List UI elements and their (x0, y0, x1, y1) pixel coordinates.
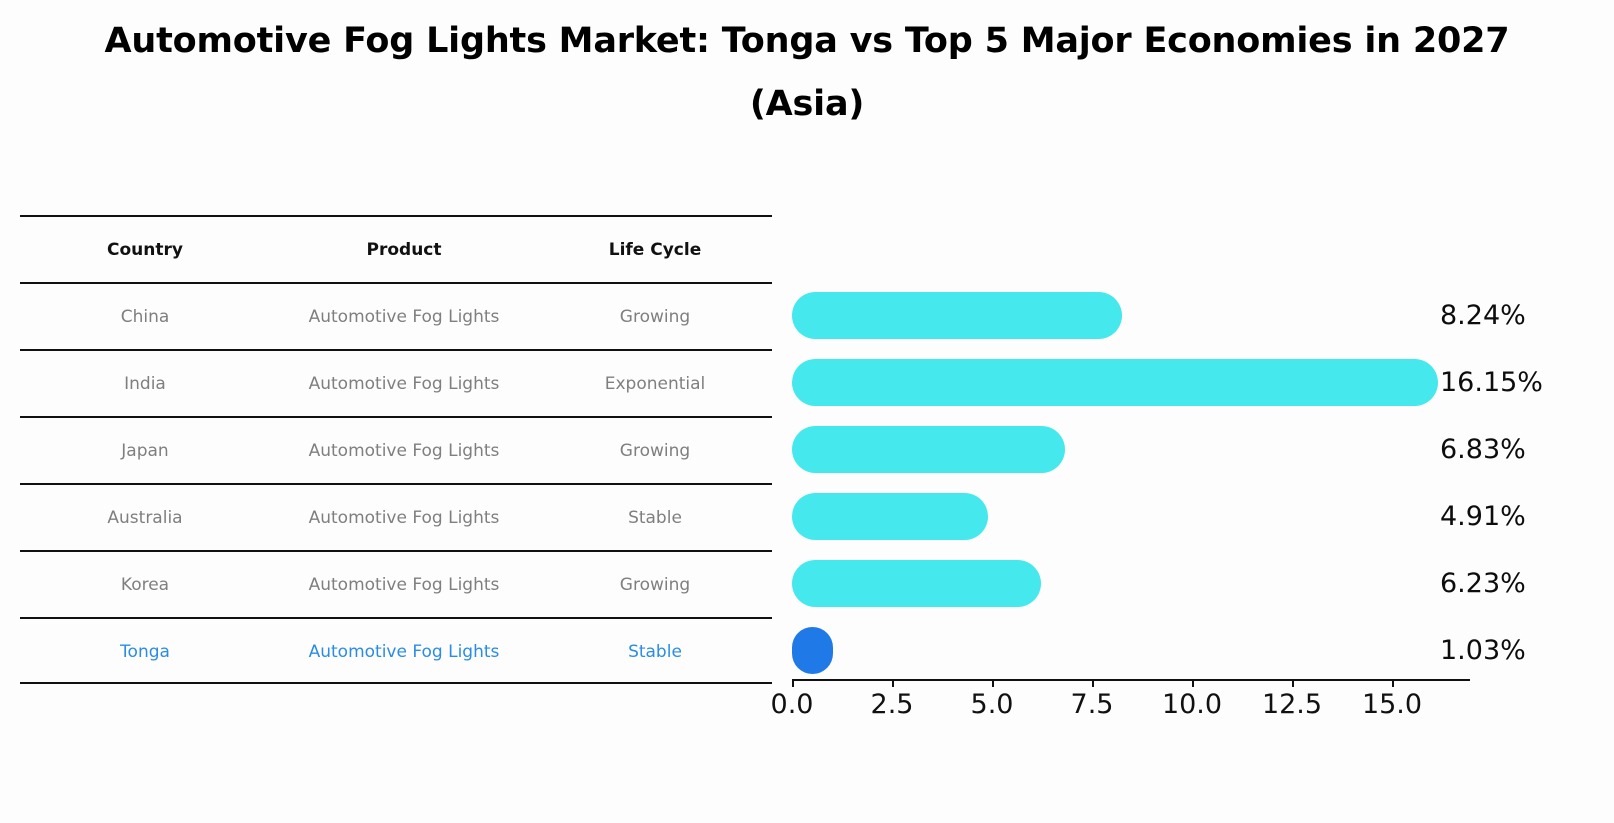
table-row[interactable]: Australia Automotive Fog Lights Stable (20, 483, 772, 550)
bar-tonga[interactable] (792, 627, 833, 674)
page-title-line-1: Automotive Fog Lights Market: Tonga vs T… (105, 21, 1510, 61)
cell-country: China (20, 284, 270, 351)
x-axis-tick-label: 15.0 (1332, 689, 1452, 720)
cell-life-cycle: Exponential (538, 351, 772, 418)
bar-row: 6.23% (792, 550, 1492, 617)
bar-australia[interactable] (792, 493, 988, 540)
cell-life-cycle: Stable (538, 485, 772, 552)
bar-japan[interactable] (792, 426, 1065, 473)
bar-value-japan: 6.83% (1440, 426, 1526, 473)
bar-row: 16.15% (792, 349, 1492, 416)
cell-life-cycle: Growing (538, 418, 772, 485)
x-axis-tick (792, 679, 794, 687)
cell-product: Automotive Fog Lights (270, 284, 538, 351)
x-axis-tick (992, 679, 994, 687)
bar-row: 8.24% (792, 282, 1492, 349)
bar-value-china: 8.24% (1440, 292, 1526, 339)
cell-country: India (20, 351, 270, 418)
cell-product: Automotive Fog Lights (270, 552, 538, 619)
cell-product: Automotive Fog Lights (270, 619, 538, 686)
cell-product: Automotive Fog Lights (270, 485, 538, 552)
page-title: Automotive Fog Lights Market: Tonga vs T… (0, 10, 1614, 136)
column-header-product: Product (270, 217, 538, 284)
cell-country: Japan (20, 418, 270, 485)
column-header-country: Country (20, 217, 270, 284)
bar-value-korea: 6.23% (1440, 560, 1526, 607)
table-header-row: Country Product Life Cycle (20, 215, 772, 282)
bar-india[interactable] (792, 359, 1438, 406)
bar-value-tonga: 1.03% (1440, 627, 1526, 674)
x-axis-tick (1192, 679, 1194, 687)
cell-country: Korea (20, 552, 270, 619)
cell-life-cycle: Growing (538, 284, 772, 351)
x-axis: 0.02.55.07.510.012.515.0 (792, 679, 1470, 739)
cell-product: Automotive Fog Lights (270, 351, 538, 418)
table-row[interactable]: Japan Automotive Fog Lights Growing (20, 416, 772, 483)
cell-country: Australia (20, 485, 270, 552)
bar-chart-plot-area: 8.24% 16.15% 6.83% 4.91% 6.23% 1.03% (792, 282, 1492, 684)
cell-product: Automotive Fog Lights (270, 418, 538, 485)
table-row[interactable]: China Automotive Fog Lights Growing (20, 282, 772, 349)
table-row[interactable]: Korea Automotive Fog Lights Growing (20, 550, 772, 617)
data-table: Country Product Life Cycle China Automot… (20, 215, 772, 684)
x-axis-tick (1392, 679, 1394, 687)
column-header-life-cycle: Life Cycle (538, 217, 772, 284)
bar-korea[interactable] (792, 560, 1041, 607)
cell-life-cycle: Stable (538, 619, 772, 686)
x-axis-tick (1092, 679, 1094, 687)
x-axis-tick (892, 679, 894, 687)
bar-row: 1.03% (792, 617, 1492, 684)
cell-country: Tonga (20, 619, 270, 686)
table-row[interactable]: India Automotive Fog Lights Exponential (20, 349, 772, 416)
bar-row: 6.83% (792, 416, 1492, 483)
page-title-line-2: (Asia) (0, 73, 1614, 136)
bar-value-india: 16.15% (1440, 359, 1543, 406)
bar-value-australia: 4.91% (1440, 493, 1526, 540)
bar-row: 4.91% (792, 483, 1492, 550)
cell-life-cycle: Growing (538, 552, 772, 619)
bar-china[interactable] (792, 292, 1122, 339)
x-axis-tick (1292, 679, 1294, 687)
table-row-highlighted[interactable]: Tonga Automotive Fog Lights Stable (20, 617, 772, 684)
